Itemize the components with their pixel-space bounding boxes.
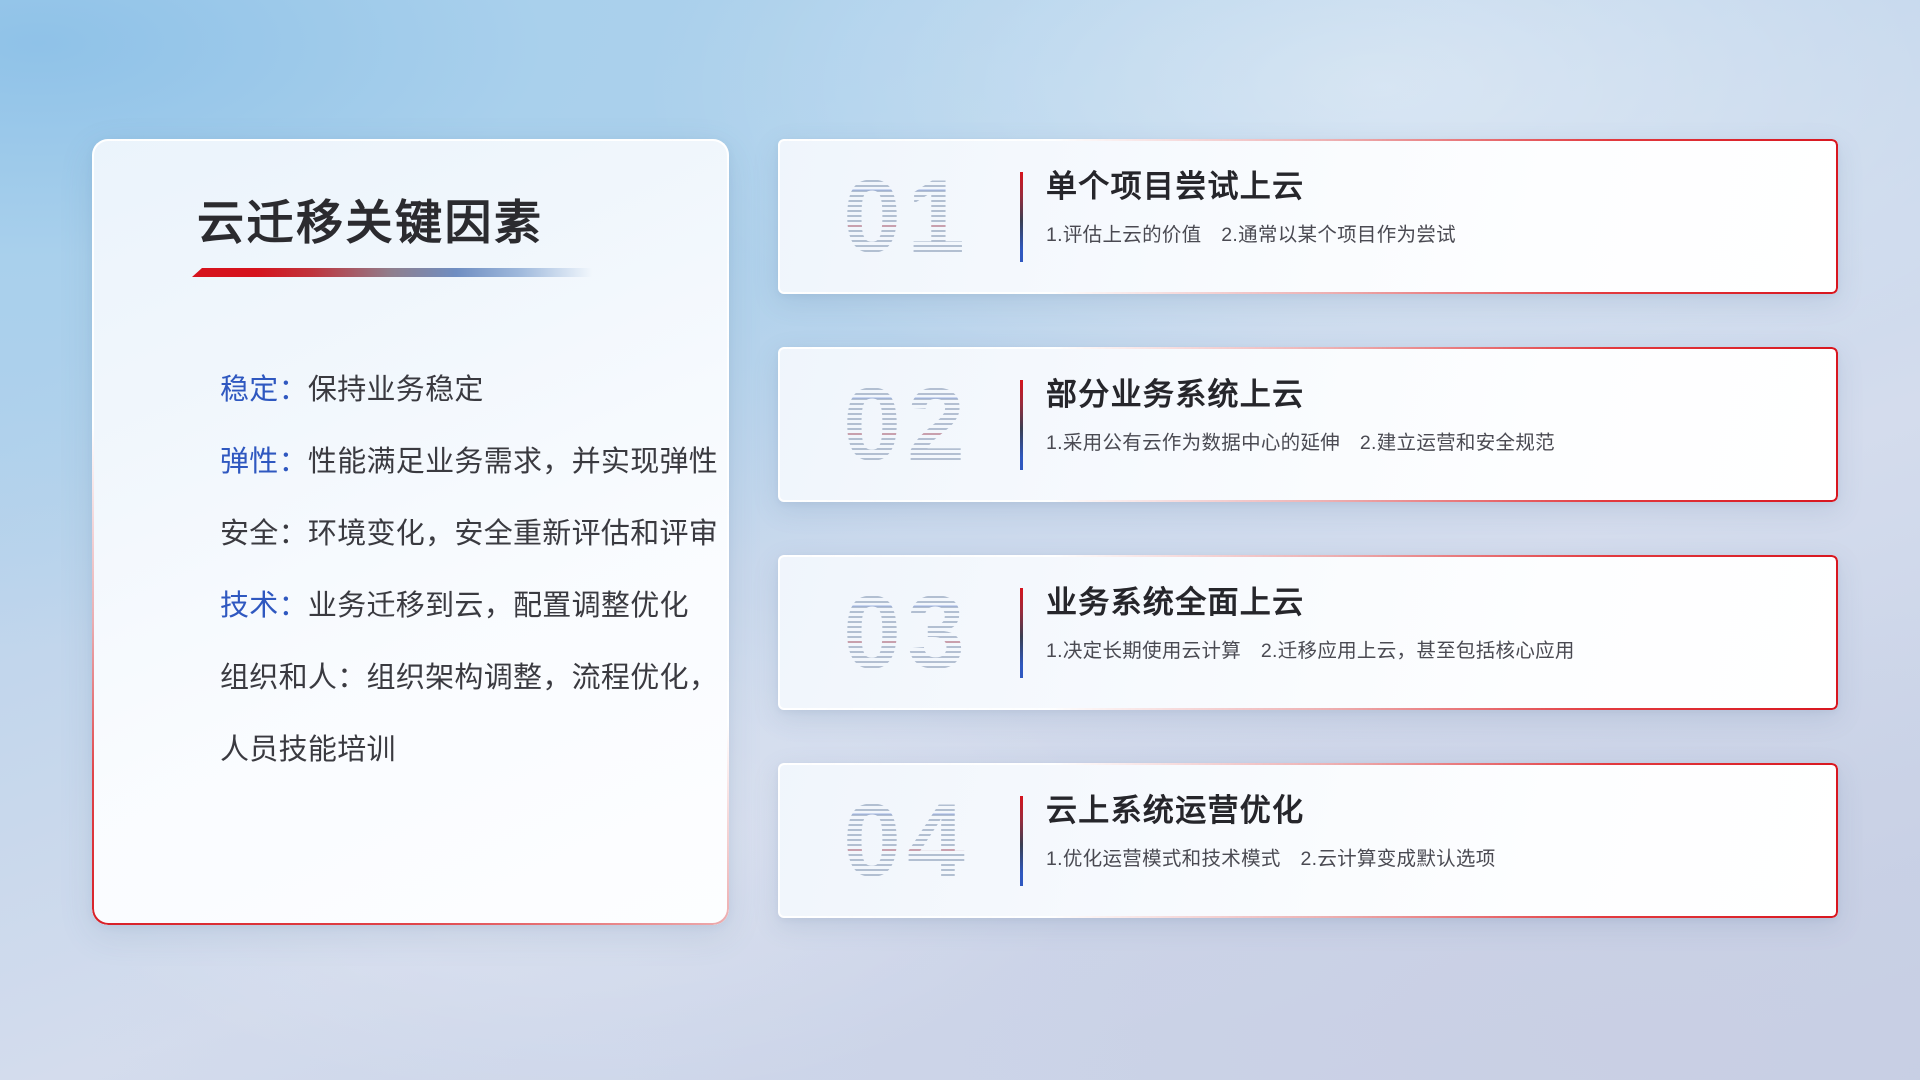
factor-label: 技术： xyxy=(220,590,308,622)
stage-number: 02 xyxy=(812,363,1002,487)
factor-description: 人员技能培训 xyxy=(220,734,396,766)
factor-label: 弹性： xyxy=(220,446,308,478)
stage-card[interactable]: 02部分业务系统上云1.采用公有云作为数据中心的延伸 2.建立运营和安全规范 xyxy=(778,347,1838,502)
factor-label: 稳定： xyxy=(220,374,308,406)
card-title: 业务系统全面上云 xyxy=(1046,581,1810,625)
key-factors-panel: 云迁移关键因素 稳定：保持业务稳定弹性：性能满足业务需求，并实现弹性安全：环境变… xyxy=(92,139,729,925)
card-body: 部分业务系统上云1.采用公有云作为数据中心的延伸 2.建立运营和安全规范 xyxy=(1046,373,1810,457)
card-subtitle: 1.决定长期使用云计算 2.迁移应用上云，甚至包括核心应用 xyxy=(1046,637,1810,665)
factor-label: 安全： xyxy=(220,518,308,550)
card-body: 业务系统全面上云1.决定长期使用云计算 2.迁移应用上云，甚至包括核心应用 xyxy=(1046,581,1810,665)
factor-item: 人员技能培训 xyxy=(220,727,689,773)
card-title: 云上系统运营优化 xyxy=(1046,789,1810,833)
stage-card[interactable]: 04云上系统运营优化1.优化运营模式和技术模式 2.云计算变成默认选项 xyxy=(778,763,1838,918)
factor-description: 组织架构调整，流程优化， xyxy=(367,662,719,694)
factor-item: 稳定：保持业务稳定 xyxy=(220,367,689,413)
card-title: 部分业务系统上云 xyxy=(1046,373,1810,417)
page-title: 云迁移关键因素 xyxy=(197,184,544,253)
factor-list: 稳定：保持业务稳定弹性：性能满足业务需求，并实现弹性安全：环境变化，安全重新评估… xyxy=(220,367,689,773)
title-underline-accent xyxy=(192,268,592,277)
factor-label: 组织和人： xyxy=(220,662,367,694)
factor-description: 环境变化，安全重新评估和评审 xyxy=(308,518,718,550)
card-divider xyxy=(1020,172,1023,262)
migration-stage-cards: 01单个项目尝试上云1.评估上云的价值 2.通常以某个项目作为尝试02部分业务系… xyxy=(778,139,1838,918)
factor-description: 保持业务稳定 xyxy=(308,374,484,406)
card-subtitle: 1.评估上云的价值 2.通常以某个项目作为尝试 xyxy=(1046,221,1810,249)
card-divider xyxy=(1020,796,1023,886)
card-divider xyxy=(1020,380,1023,470)
card-divider xyxy=(1020,588,1023,678)
factor-description: 业务迁移到云，配置调整优化 xyxy=(308,590,689,622)
card-title: 单个项目尝试上云 xyxy=(1046,165,1810,209)
card-subtitle: 1.采用公有云作为数据中心的延伸 2.建立运营和安全规范 xyxy=(1046,429,1810,457)
stage-number: 03 xyxy=(812,571,1002,695)
stage-card[interactable]: 03业务系统全面上云1.决定长期使用云计算 2.迁移应用上云，甚至包括核心应用 xyxy=(778,555,1838,710)
factor-item: 安全：环境变化，安全重新评估和评审 xyxy=(220,511,689,557)
card-subtitle: 1.优化运营模式和技术模式 2.云计算变成默认选项 xyxy=(1046,845,1810,873)
card-body: 单个项目尝试上云1.评估上云的价值 2.通常以某个项目作为尝试 xyxy=(1046,165,1810,249)
card-body: 云上系统运营优化1.优化运营模式和技术模式 2.云计算变成默认选项 xyxy=(1046,789,1810,873)
stage-number: 04 xyxy=(812,779,1002,903)
stage-card[interactable]: 01单个项目尝试上云1.评估上云的价值 2.通常以某个项目作为尝试 xyxy=(778,139,1838,294)
factor-item: 技术：业务迁移到云，配置调整优化 xyxy=(220,583,689,629)
factor-description: 性能满足业务需求，并实现弹性 xyxy=(308,446,718,478)
factor-item: 组织和人：组织架构调整，流程优化， xyxy=(220,655,689,701)
stage-number: 01 xyxy=(812,155,1002,279)
factor-item: 弹性：性能满足业务需求，并实现弹性 xyxy=(220,439,689,485)
